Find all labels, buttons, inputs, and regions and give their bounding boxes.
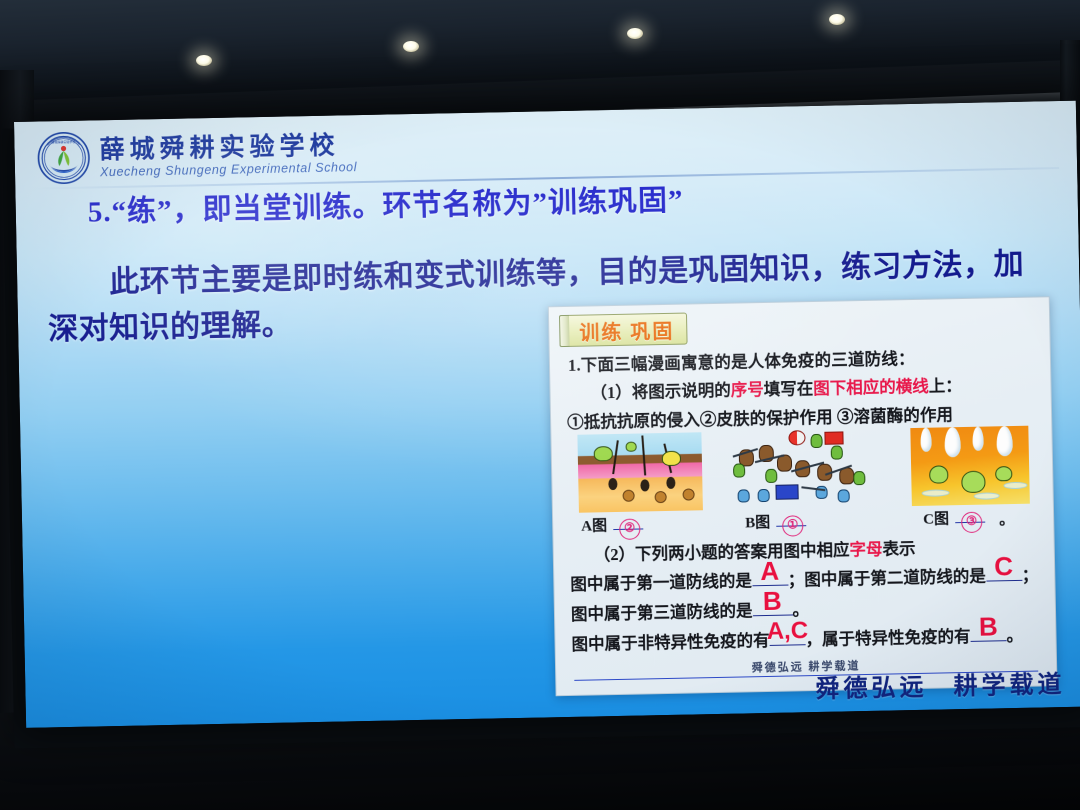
photo-of-classroom-projection: 薛城舜耕实验学校 薛城舜耕实验学校 Xuecheng Shungeng Expe… xyxy=(0,0,1080,810)
answer-row-1-value-1: A xyxy=(760,558,779,584)
ceiling-spotlight xyxy=(627,28,643,39)
question-1-sub-2: （2）下列两小题的答案用图中相应字母表示 xyxy=(594,532,1044,565)
ceiling-spotlight xyxy=(196,55,212,66)
slide-header: 薛城舜耕实验学校 薛城舜耕实验学校 Xuecheng Shungeng Expe… xyxy=(36,125,357,185)
answer-row-3-seg-1-text: 图中属于非特异性免疫的有 xyxy=(571,631,769,654)
answer-row-1-blank-2: C xyxy=(986,565,1022,582)
sub1-highlight-2: 图下相应的横线 xyxy=(813,377,929,398)
answer-row-1-value-2: C xyxy=(994,553,1013,579)
answer-row-3: 图中属于非特异性免疫的有A,C，属于特异性免疫的有B。 xyxy=(571,621,1047,655)
slide-content: 薛城舜耕实验学校 薛城舜耕实验学校 Xuecheng Shungeng Expe… xyxy=(14,101,1080,728)
sub1-suffix: 上： xyxy=(929,376,962,396)
sub2-suffix: 表示 xyxy=(882,539,915,559)
school-name-cn: 薛城舜耕实验学校 xyxy=(99,133,357,163)
answer-row-2: 图中属于第三道防线的是B。 xyxy=(571,591,1047,625)
answer-row-3-blank-2: B xyxy=(970,625,1006,642)
answer-row-1-seg-1-text: 图中属于第一道防线的是 xyxy=(570,571,752,594)
answer-row-1-blank-1: A xyxy=(752,570,788,587)
projection-screen: 薛城舜耕实验学校 薛城舜耕实验学校 Xuecheng Shungeng Expe… xyxy=(14,101,1080,728)
answer-row-3-blank-1: A,C xyxy=(769,629,805,646)
caption-end-period: 。 xyxy=(999,508,1014,529)
school-name-en: Xuecheng Shungeng Experimental School xyxy=(100,161,357,179)
section-badge: 训练 巩固 xyxy=(559,313,688,348)
ceiling-spotlight xyxy=(829,14,845,25)
answer-row-3-value-1: A,C xyxy=(766,619,808,644)
ceiling-spotlight xyxy=(403,41,419,52)
picture-b xyxy=(730,429,884,510)
sub1-mid: 填写在 xyxy=(764,379,814,399)
slide-motto-left: 舜德弘远 xyxy=(815,675,927,703)
svg-text:薛城舜耕实验学校: 薛城舜耕实验学校 xyxy=(51,139,75,144)
caption-a: A图 ② xyxy=(581,514,640,539)
sub1-prefix: （1）将图示说明的 xyxy=(590,381,731,403)
answer-row-3-tail: 。 xyxy=(1006,626,1023,645)
caption-c: C图 ③ xyxy=(923,507,982,532)
slide-motto-right: 耕学载道 xyxy=(953,672,1065,700)
sub1-highlight-1: 序号 xyxy=(731,380,764,400)
answer-row-1-seg-2-text: ；图中属于第二道防线的是 xyxy=(788,567,986,590)
section-badge-label: 训练 巩固 xyxy=(569,313,688,347)
caption-a-answer: ② xyxy=(619,519,640,540)
answer-row-2-value-1: B xyxy=(763,588,782,614)
caption-b: B图 ① xyxy=(745,510,803,535)
school-crest-logo: 薛城舜耕实验学校 xyxy=(36,130,91,185)
answer-row-3-seg-2-text: ，属于特异性免疫的有 xyxy=(805,627,970,649)
caption-c-answer: ③ xyxy=(961,512,982,533)
badge-bar-icon xyxy=(559,315,570,347)
picture-a xyxy=(577,432,703,512)
answer-row-3-value-2: B xyxy=(979,613,998,639)
sub2-highlight: 字母 xyxy=(849,540,882,560)
caption-b-answer: ① xyxy=(782,515,803,536)
worksheet-panel: 训练 巩固 1.下面三幅漫画寓意的是人体免疫的三道防线： （1）将图示说明的序号… xyxy=(548,296,1058,696)
sub2-prefix: （2）下列两小题的答案用图中相应 xyxy=(594,540,850,564)
picture-c xyxy=(910,426,1030,506)
answer-row-2-blank-1: B xyxy=(752,599,792,616)
answer-row-2-seg-1-text: 图中属于第三道防线的是 xyxy=(571,601,753,624)
caption-b-label: B图 xyxy=(745,511,770,532)
answer-row-1: 图中属于第一道防线的是A；图中属于第二道防线的是C； xyxy=(570,561,1046,595)
answer-row-1-tail: ； xyxy=(1022,566,1039,585)
slide-motto: 舜德弘远耕学载道 xyxy=(815,664,1066,704)
caption-a-label: A图 xyxy=(581,514,607,536)
school-name-block: 薛城舜耕实验学校 Xuecheng Shungeng Experimental … xyxy=(99,131,357,179)
question-1-sub-1: （1）将图示说明的序号填写在图下相应的横线上： xyxy=(590,370,1040,403)
caption-c-label: C图 xyxy=(923,507,949,529)
skin-cross-section-illustration xyxy=(577,432,703,512)
